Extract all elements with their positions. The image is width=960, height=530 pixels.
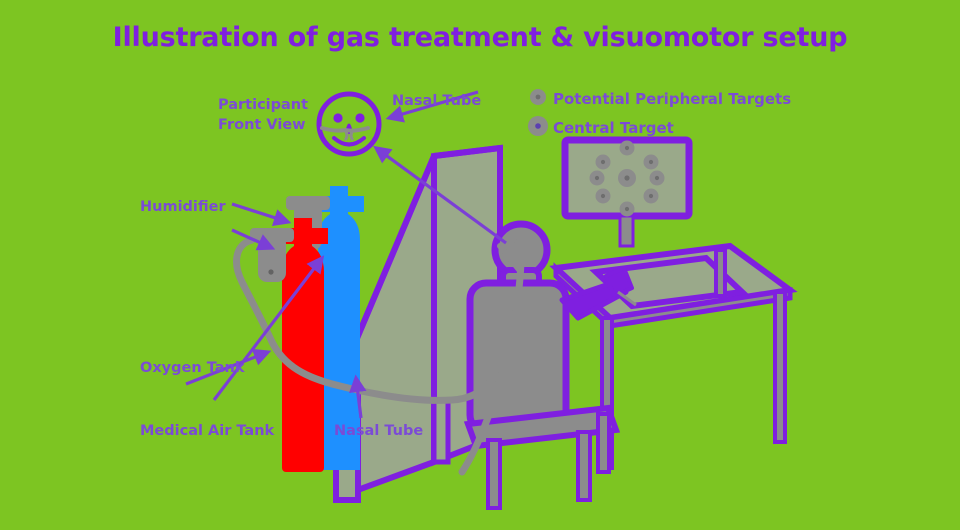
target-peripheral-ne xyxy=(644,155,659,170)
legend-label-central-target: Central Target xyxy=(553,118,674,138)
label-medical-air-tank: Medical Air Tank xyxy=(140,422,274,442)
label-humidifier: Humidifier xyxy=(140,198,226,218)
chair-leg-front-right xyxy=(578,432,590,500)
arrow-humidifier-1 xyxy=(232,204,288,222)
monitor xyxy=(565,140,689,246)
target-central xyxy=(618,169,636,187)
label-nasal-tube-top: Nasal Tube xyxy=(392,92,481,112)
legend-marker-peripheral xyxy=(530,89,546,105)
label-oxygen-tank: Oxygen Tank xyxy=(140,359,245,379)
target-peripheral-n xyxy=(620,141,635,156)
page-title: Illustration of gas treatment & visuomot… xyxy=(0,22,960,53)
desk-leg-front-right xyxy=(775,292,785,442)
setup-illustration xyxy=(0,0,960,530)
illustration-canvas: Illustration of gas treatment & visuomot… xyxy=(0,0,960,530)
monitor-stand xyxy=(620,216,633,246)
target-peripheral-nw xyxy=(596,155,611,170)
humidifier-port-1 xyxy=(268,269,273,274)
face-eye-left xyxy=(333,113,342,122)
target-peripheral-w xyxy=(590,171,605,186)
partition-post-right xyxy=(434,400,448,462)
target-peripheral-se xyxy=(644,189,659,204)
face-eye-right xyxy=(355,113,364,122)
face-smile xyxy=(334,138,364,145)
chair-leg-front-left xyxy=(488,440,500,508)
humidifier-cap-2 xyxy=(286,196,330,210)
label-nasal-tube-bottom: Nasal Tube xyxy=(334,422,423,442)
legend-label-peripheral-targets: Potential Peripheral Targets xyxy=(553,89,791,109)
target-peripheral-e xyxy=(650,171,665,186)
label-participant-front-view: Participant Front View xyxy=(218,96,308,135)
target-peripheral-s xyxy=(620,202,635,217)
participant-front-view-face xyxy=(319,94,379,154)
legend-marker-central xyxy=(528,116,548,136)
chair-leg-back-right xyxy=(598,414,609,472)
desk-leg-back-right xyxy=(716,250,725,296)
legend-markers xyxy=(525,86,553,140)
target-peripheral-sw xyxy=(596,189,611,204)
